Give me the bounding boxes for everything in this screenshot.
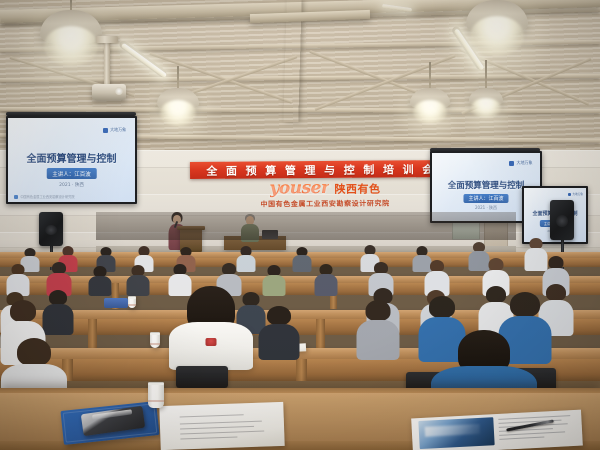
attendee <box>356 300 400 358</box>
desk-edge <box>0 388 600 393</box>
youser-logo-text: youser <box>269 178 329 198</box>
ceiling-projector <box>92 84 126 100</box>
banner-brand-block: youser 陕西有色 中国有色金属工业西安勘察设计研究院 <box>230 177 420 208</box>
event-banner: 全 面 预 算 管 理 与 控 制 培 训 会 <box>190 160 452 179</box>
slide-date: 2021 · 陕西 <box>8 182 135 188</box>
left-speaker <box>39 212 63 246</box>
attendee <box>6 264 30 294</box>
paper-cup[interactable] <box>128 296 136 308</box>
chair-back <box>176 366 228 388</box>
attendee-white-tshirt <box>168 286 254 366</box>
slide-footer: 中国有色金属工业西安勘察设计研究院 <box>14 194 74 199</box>
attendee <box>258 306 300 358</box>
tshirt-logo <box>206 338 217 346</box>
seminar-photo: 全 面 预 算 管 理 与 控 制 培 训 会 youser 陕西有色 中国有色… <box>0 0 600 450</box>
attendee-shirt <box>169 322 253 370</box>
right-speaker <box>550 200 574 240</box>
document-sheet[interactable] <box>159 402 284 450</box>
slide-presenter: 主讲人：江百波 <box>46 168 97 179</box>
projector-mount-bracket <box>96 36 118 43</box>
attendee <box>42 290 74 332</box>
slide-arc-decoration <box>23 118 122 149</box>
attendee <box>126 265 150 294</box>
slide-logo: 大地万象 <box>509 160 532 166</box>
pendant-light <box>466 60 506 106</box>
brand-chinese-name: 陕西有色 <box>334 181 380 197</box>
desk-tray <box>104 298 128 308</box>
pendant-light <box>156 66 200 108</box>
slide-logo: 大地万象 <box>103 127 126 133</box>
paper-cup[interactable] <box>150 332 160 348</box>
front-wall-band <box>96 212 516 240</box>
slide-title: 全面预算管理与控制 <box>8 150 135 165</box>
paper-cup[interactable] <box>148 382 164 408</box>
slide-presenter: 主讲人：江百波 <box>463 194 508 203</box>
banner-subtitle: 中国有色金属工业西安勘察设计研究院 <box>230 198 420 209</box>
banner-title: 全 面 预 算 管 理 与 控 制 培 训 会 <box>206 161 435 179</box>
attendee <box>314 264 338 294</box>
pendant-light <box>466 0 528 46</box>
attendee <box>424 260 450 294</box>
attendee <box>262 265 286 294</box>
pendant-light <box>40 0 102 52</box>
attendee <box>292 247 312 270</box>
booklet-cover-image <box>418 417 494 449</box>
left-projection-screen[interactable]: 大地万象 全面预算管理与控制 主讲人：江百波 2021 · 陕西 中国有色金属工… <box>6 116 137 204</box>
slide-logo: 大地万象 <box>568 192 583 196</box>
pendant-light <box>408 62 452 108</box>
projector-mount <box>104 38 110 86</box>
attendee <box>88 266 112 294</box>
